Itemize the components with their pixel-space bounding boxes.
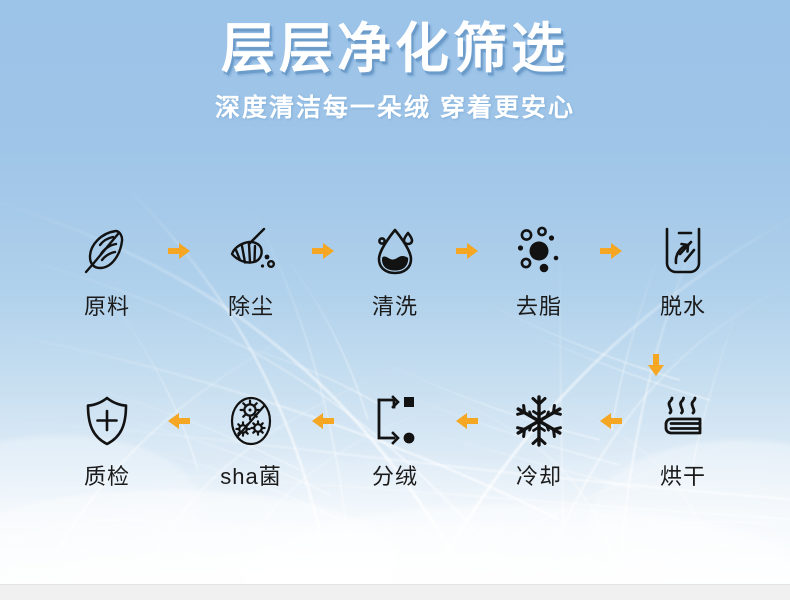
process-step-quality-inspection: 质检 [49, 392, 165, 490]
arrow-right-icon [309, 222, 337, 280]
header-block: 层层净化筛选 深度清洁每一朵绒 穿着更安心 [0, 18, 790, 124]
separate-down-icon [367, 392, 423, 450]
page-background-strip [0, 584, 790, 600]
process-step-label: 除尘 [228, 294, 274, 320]
process-step-down-separation: 分绒 [337, 392, 453, 490]
process-step-label: 冷却 [516, 464, 562, 490]
page-title: 层层净化筛选 [0, 18, 790, 80]
arrow-right-icon [165, 222, 193, 280]
arrow-right-icon [453, 222, 481, 280]
process-step-label: 分绒 [372, 464, 418, 490]
process-step-sterilization: sha菌 [193, 392, 309, 490]
process-step-washing: 清洗 [337, 222, 453, 320]
process-step-dehydration: 脱水 [625, 222, 741, 320]
process-step-label: 原料 [84, 294, 130, 320]
snowflake-icon [511, 392, 567, 450]
process-step-dust-removal: 除尘 [193, 222, 309, 320]
arrow-right-icon [597, 222, 625, 280]
shield-check-icon [79, 392, 135, 450]
process-step-drying: 烘干 [625, 392, 741, 490]
arrow-left-icon [597, 392, 625, 450]
page-subtitle: 深度清洁每一朵绒 穿着更安心 [0, 92, 790, 124]
arrow-left-icon [309, 392, 337, 450]
tumble-dry-icon [655, 392, 711, 450]
process-step-cooling: 冷却 [481, 392, 597, 490]
arrow-down-icon [644, 348, 668, 382]
process-step-label: 脱水 [660, 294, 706, 320]
water-drop-icon [367, 222, 423, 280]
grease-bubbles-icon [511, 222, 567, 280]
process-flow-row-1: 原料 [0, 222, 790, 320]
process-step-label: 清洗 [372, 294, 418, 320]
process-step-label: sha菌 [220, 464, 281, 490]
process-step-label: 烘干 [660, 464, 706, 490]
feather-icon [79, 222, 135, 280]
process-step-degreasing: 去脂 [481, 222, 597, 320]
arrow-left-icon [165, 392, 193, 450]
spin-dry-icon [655, 222, 711, 280]
poster-canvas: 层层净化筛选 深度清洁每一朵绒 穿着更安心 原料 [0, 0, 790, 600]
arrow-left-icon [453, 392, 481, 450]
process-step-raw-material: 原料 [49, 222, 165, 320]
anti-bacteria-icon [223, 392, 279, 450]
process-step-label: 质检 [84, 464, 130, 490]
process-flow-row-2: 质检 [0, 392, 790, 490]
artwork-area: 层层净化筛选 深度清洁每一朵绒 穿着更安心 原料 [0, 0, 790, 584]
process-step-label: 去脂 [516, 294, 562, 320]
broom-icon [223, 222, 279, 280]
